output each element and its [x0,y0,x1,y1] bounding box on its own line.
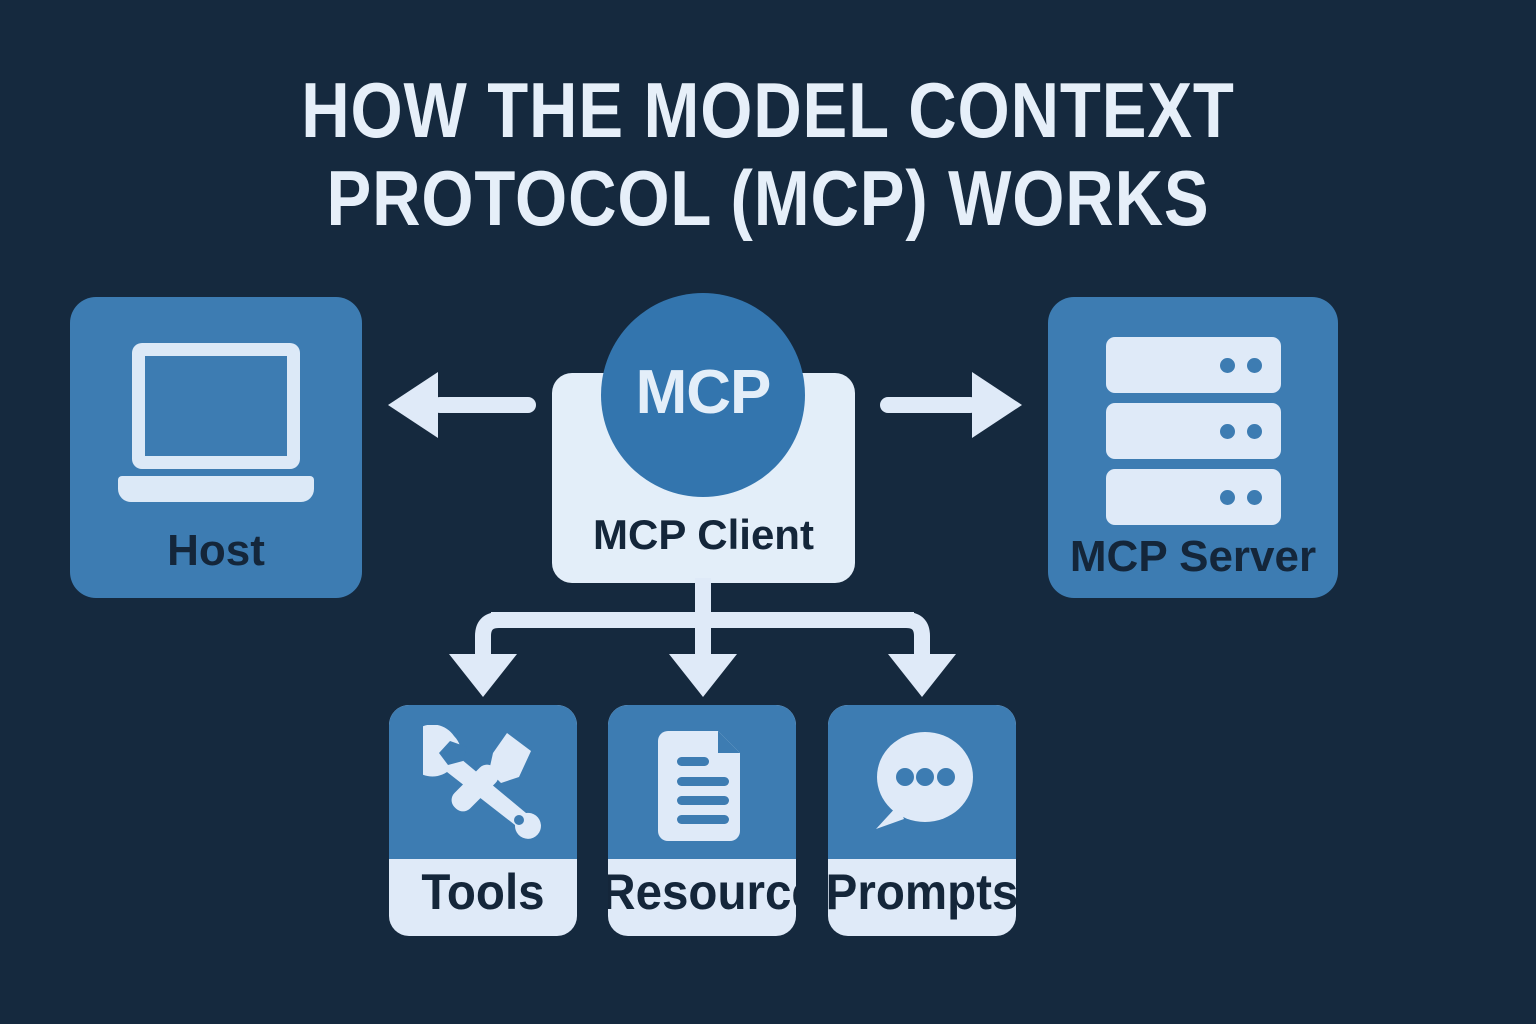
server-rack-icon [1106,469,1281,525]
server-led-icon [1220,358,1235,373]
server-led-icon [1220,424,1235,439]
node-capability-resources[interactable]: Resources [608,705,796,936]
server-rack-icon [1106,403,1281,459]
arrow-client-to-host [388,370,536,440]
capability-icon-area [608,705,796,859]
node-host[interactable]: Host [70,297,362,598]
arrow-head-right-icon [972,372,1022,438]
node-mcp-client-label: MCP Client [552,511,855,559]
laptop-screen-icon-part [132,343,300,469]
capability-label-resources: Resources [608,863,796,921]
node-capability-prompts[interactable]: Prompts [828,705,1016,936]
branch-connector [0,560,1536,710]
server-rack-icon [1106,337,1281,393]
server-led-icon [1247,424,1262,439]
arrow-shaft [880,397,978,413]
document-icon [642,725,762,843]
capability-icon-area [389,705,577,859]
arrow-head-left-icon [388,372,438,438]
server-led-icon [1247,490,1262,505]
server-led-icon [1247,358,1262,373]
wrench-screwdriver-icon [423,725,543,843]
chat-bubble-icon [862,725,982,843]
laptop-base-icon-part [118,476,314,502]
capability-icon-area [828,705,1016,859]
arrow-shaft [432,397,536,413]
node-capability-tools[interactable]: Tools [389,705,577,936]
capability-label-prompts: Prompts [828,863,1016,921]
page-title: HOW THE MODEL CONTEXT PROTOCOL (MCP) WOR… [108,66,1429,242]
capability-label-tools: Tools [389,863,577,921]
mcp-badge-label: MCP [636,357,771,428]
laptop-icon [118,343,314,503]
mcp-badge-circle: MCP [601,293,805,497]
server-led-icon [1220,490,1235,505]
diagram-canvas: HOW THE MODEL CONTEXT PROTOCOL (MCP) WOR… [0,0,1536,1024]
arrow-client-to-server [880,370,1022,440]
node-mcp-server[interactable]: MCP Server [1048,297,1338,598]
